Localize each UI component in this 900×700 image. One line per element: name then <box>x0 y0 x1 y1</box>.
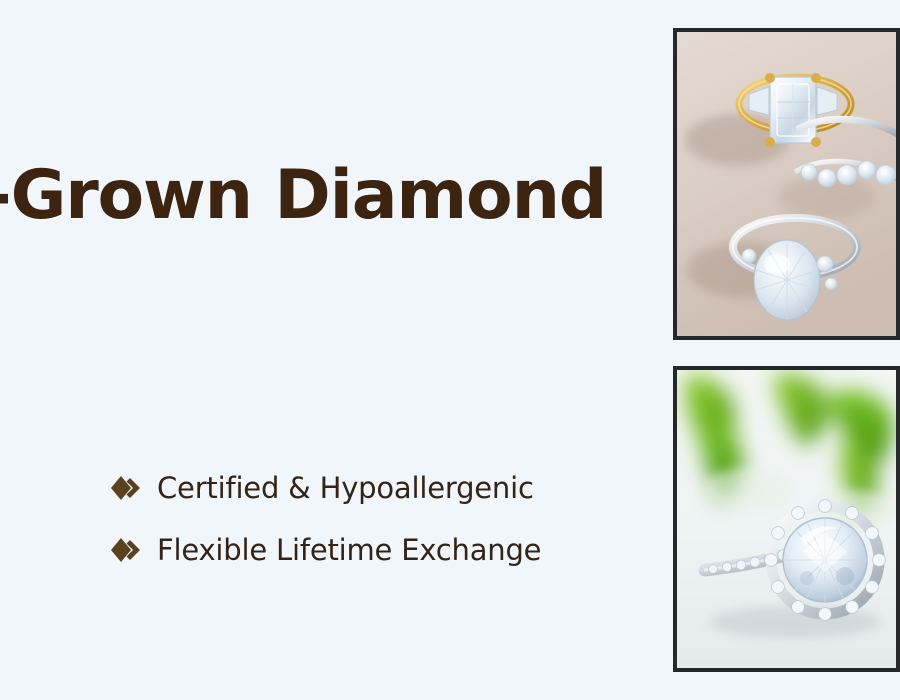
feature-item-exchange: Flexible Lifetime Exchange <box>110 528 541 572</box>
feature-label: Flexible Lifetime Exchange <box>157 533 541 567</box>
promotional-banner: al Lab-Grown Diamond Shop Now ds Certifi… <box>0 0 900 700</box>
page-title: al Lab-Grown Diamond <box>0 155 640 237</box>
diamond-rings-photo <box>673 28 900 340</box>
halo-ring-photo <box>673 366 900 672</box>
halo-ring-illustration <box>677 370 896 668</box>
diamond-chevron-icon <box>110 475 144 501</box>
feature-list: ds Certified & Hypoallergenic <box>0 466 640 590</box>
list-item: Flexible Lifetime Exchange <box>0 528 640 590</box>
feature-label: Certified & Hypoallergenic <box>157 471 534 505</box>
feature-item-left-2 <box>0 528 110 572</box>
feature-item-certified: Certified & Hypoallergenic <box>110 466 534 510</box>
banner-content-column: al Lab-Grown Diamond Shop Now ds Certifi… <box>0 0 640 700</box>
list-item: ds Certified & Hypoallergenic <box>0 466 640 528</box>
feature-item-left-1: ds <box>0 466 110 510</box>
diamond-rings-illustration <box>677 32 896 336</box>
diamond-chevron-icon <box>110 537 144 563</box>
